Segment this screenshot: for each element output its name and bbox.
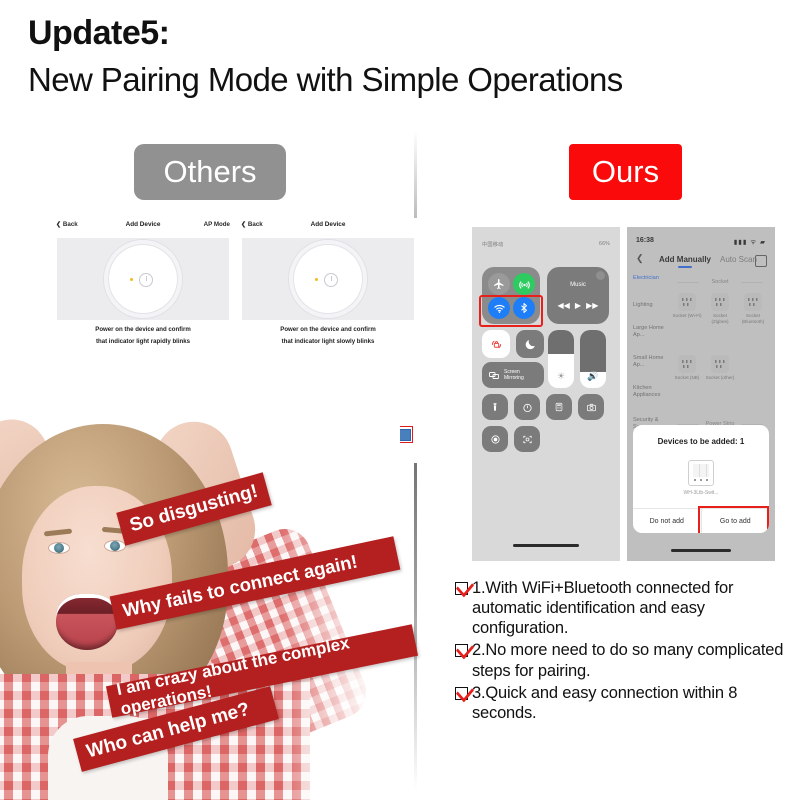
screen-mirroring-line1: Screen xyxy=(504,369,520,375)
device-illustration xyxy=(57,238,229,320)
benefit-item-1: 1.With WiFi+Bluetooth connected for auto… xyxy=(455,578,795,638)
timer-icon[interactable] xyxy=(514,394,540,420)
wall-switch-icon xyxy=(688,460,714,486)
volume-fill xyxy=(580,330,606,372)
power-icon xyxy=(139,273,153,287)
page-subtitle: New Pairing Mode with Simple Operations xyxy=(28,59,788,102)
airplane-mode-icon[interactable] xyxy=(488,273,510,295)
instruction-line-1: Power on the device and confirm xyxy=(246,326,410,333)
code-scanner-icon[interactable] xyxy=(514,426,540,452)
go-to-add-highlight-box xyxy=(698,506,769,533)
ap-mode-button[interactable]: AP Mode xyxy=(204,221,230,228)
badge-others-label: Others xyxy=(163,154,256,190)
photo-fade-right xyxy=(280,396,400,800)
status-battery: 66% xyxy=(599,241,610,247)
ios-control-center-screenshot: 中国移动 66% Music ◀◀ ▶ ▶▶ xyxy=(472,227,620,561)
screen-mirroring-line2: Mirroring xyxy=(504,375,524,381)
eye-right xyxy=(104,540,126,552)
power-icon xyxy=(324,273,338,287)
checkbox-checked-icon xyxy=(455,687,468,700)
modal-actions: Do not add Go to add xyxy=(633,508,769,533)
cellular-data-icon[interactable] xyxy=(513,273,535,295)
flashlight-icon[interactable] xyxy=(482,394,508,420)
device-illustration xyxy=(242,238,414,320)
music-widget[interactable]: Music ◀◀ ▶ ▶▶ xyxy=(547,267,609,324)
screen-navbar: ❮ Back Add Device AP Mode xyxy=(53,218,233,238)
open-mouth xyxy=(56,594,118,650)
screen-title: Add Device xyxy=(238,221,418,228)
benefit-item-2: 2.No more need to do so many complicated… xyxy=(455,640,795,680)
smart-app-screenshot: 16:38 ▮▮▮ ᯤ ▰ ❮ Add Manually Auto Scan E… xyxy=(627,227,775,561)
benefit-text-2: 2.No more need to do so many complicated… xyxy=(472,640,795,680)
home-indicator xyxy=(513,544,579,547)
status-carrier: 中国移动 xyxy=(482,241,504,248)
screen-mirroring-label: Screen Mirroring xyxy=(504,369,524,382)
devices-to-add-modal: Devices to be added: 1 WH-3Ltb-Swit... D… xyxy=(633,425,769,533)
home-indicator xyxy=(671,549,731,552)
airplay-icon[interactable] xyxy=(596,271,605,280)
volume-icon: 🔊 xyxy=(580,371,606,382)
brightness-icon: ☀ xyxy=(548,371,574,382)
screen-mirroring-button[interactable]: Screen Mirroring xyxy=(482,362,544,388)
wifi-bluetooth-highlight-box xyxy=(479,295,543,327)
status-bar: 中国移动 66% xyxy=(472,241,620,250)
brightness-fill xyxy=(548,330,574,354)
music-controls: ◀◀ ▶ ▶▶ xyxy=(547,301,609,310)
benefit-item-3: 3.Quick and easy connection within 8 sec… xyxy=(455,683,795,723)
instruction-line-2: that indicator light rapidly blinks xyxy=(61,338,225,345)
music-prev-button[interactable]: ◀◀ xyxy=(558,301,570,310)
modal-title: Devices to be added: 1 xyxy=(633,437,769,446)
camera-icon[interactable] xyxy=(578,394,604,420)
calculator-icon[interactable] xyxy=(546,394,572,420)
page-header: Update5: New Pairing Mode with Simple Op… xyxy=(28,14,788,102)
checkbox-checked-icon xyxy=(455,644,468,657)
checkbox-checked-icon xyxy=(455,582,468,595)
page-title: Update5: xyxy=(28,14,788,53)
music-play-button[interactable]: ▶ xyxy=(575,301,581,310)
indicator-led-icon xyxy=(130,278,133,281)
volume-slider[interactable]: 🔊 xyxy=(580,330,606,388)
benefit-text-1: 1.With WiFi+Bluetooth connected for auto… xyxy=(472,578,795,638)
benefits-list: 1.With WiFi+Bluetooth connected for auto… xyxy=(455,578,795,725)
screen-record-icon[interactable] xyxy=(482,426,508,452)
eye-left xyxy=(48,542,70,554)
shortcut-row-2 xyxy=(482,426,540,452)
rotation-lock-icon[interactable] xyxy=(482,330,510,358)
benefit-text-3: 3.Quick and easy connection within 8 sec… xyxy=(472,683,795,723)
screen-navbar: ❮ Back Add Device xyxy=(238,218,418,238)
music-next-button[interactable]: ▶▶ xyxy=(586,301,598,310)
badge-others: Others xyxy=(134,144,286,200)
poster-canvas: Update5: New Pairing Mode with Simple Op… xyxy=(0,0,800,800)
music-title: Music xyxy=(547,282,609,288)
badge-ours: Ours xyxy=(569,144,682,200)
indicator-led-icon xyxy=(315,278,318,281)
instruction-line-1: Power on the device and confirm xyxy=(61,326,225,333)
instruction-line-2: that indicator light slowly blinks xyxy=(246,338,410,345)
badge-ours-label: Ours xyxy=(592,154,659,190)
do-not-disturb-icon[interactable] xyxy=(516,330,544,358)
do-not-add-button[interactable]: Do not add xyxy=(633,509,701,533)
shortcut-row-1 xyxy=(482,394,604,420)
brightness-slider[interactable]: ☀ xyxy=(548,330,574,388)
modal-device-name: WH-3Ltb-Swit... xyxy=(633,490,769,496)
